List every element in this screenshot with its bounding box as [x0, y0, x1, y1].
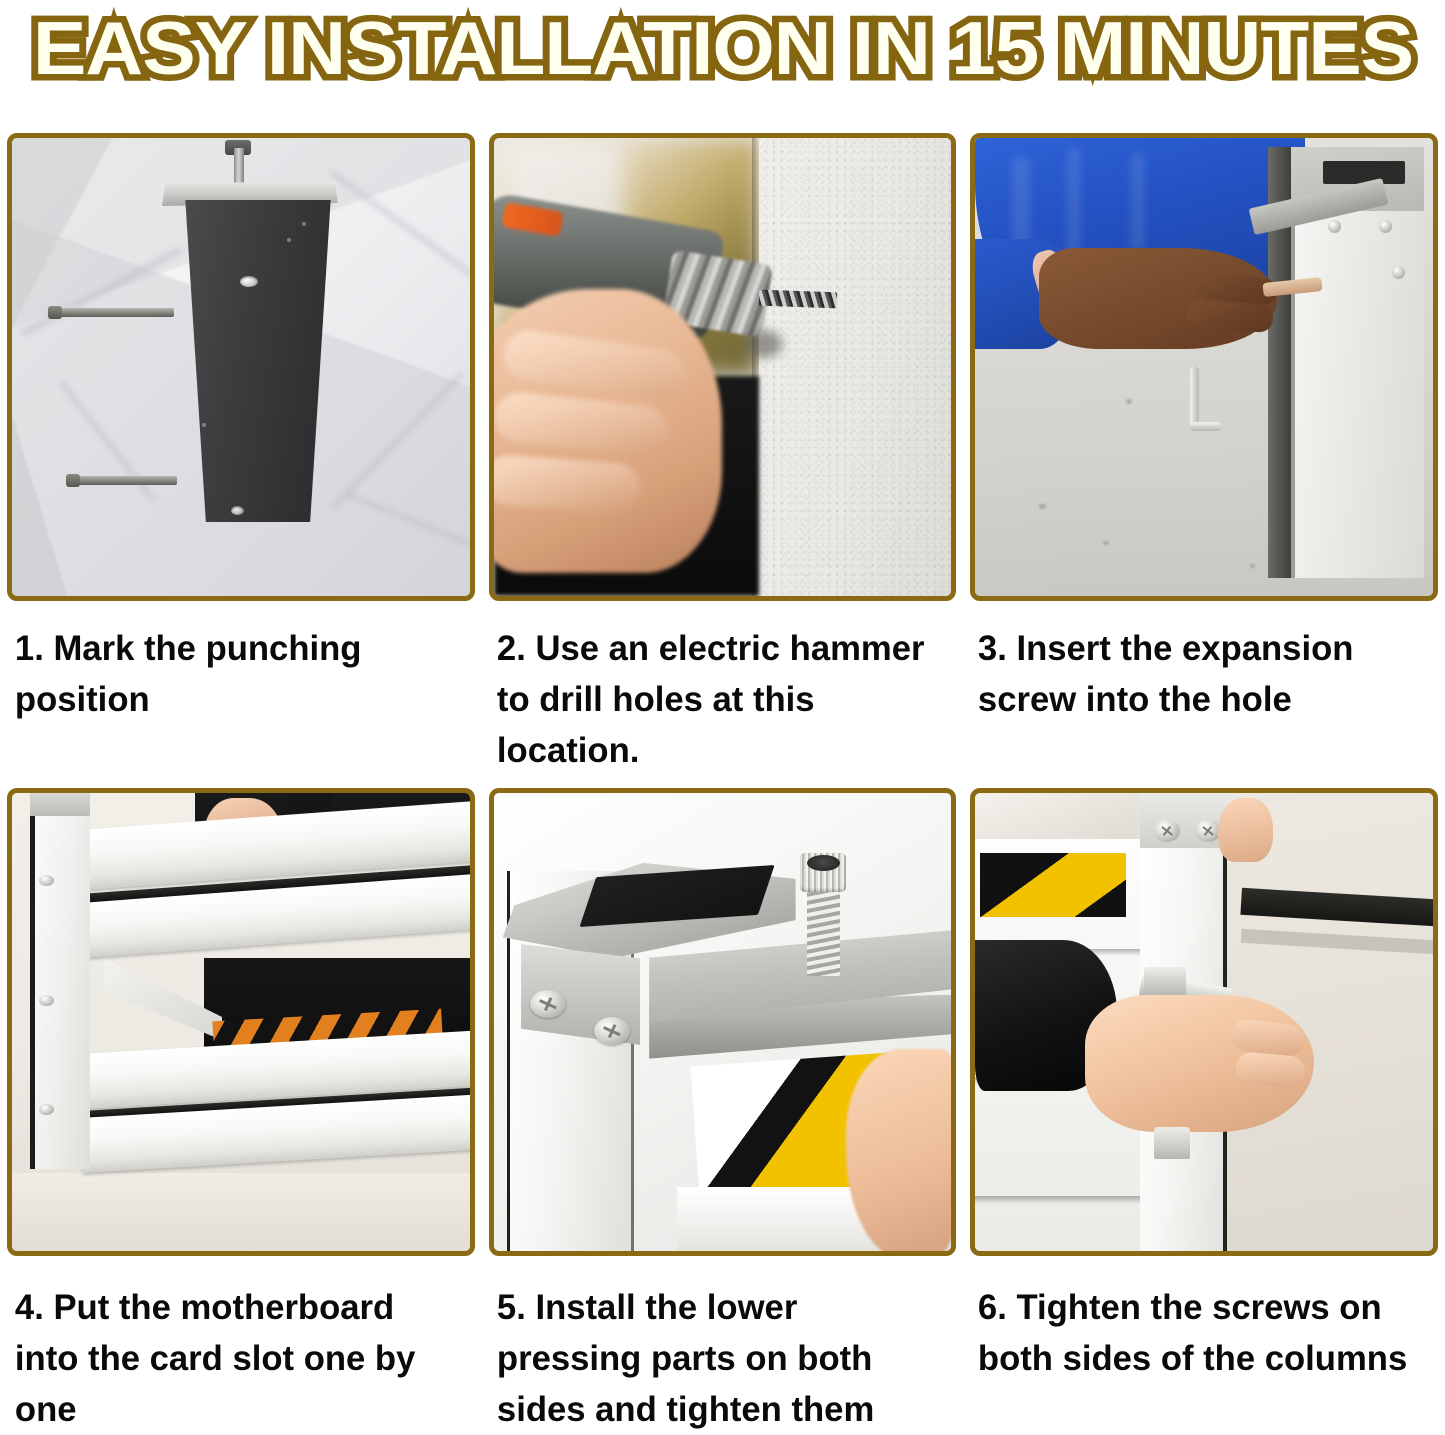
- board-gap: [975, 1196, 1144, 1204]
- side-rod-lower: [72, 476, 177, 485]
- step-image-6: [970, 788, 1438, 1256]
- column-black-inset: [1323, 161, 1405, 184]
- scene-boards-into-slot: [12, 793, 470, 1251]
- finger: [1235, 1051, 1306, 1089]
- hazard-striped-board: [980, 853, 1126, 917]
- bolt-socket-hole: [807, 855, 840, 871]
- shirt-fold: [1131, 152, 1145, 253]
- step-image-3: [970, 133, 1438, 601]
- scene-pressing-bracket: [494, 793, 952, 1251]
- floor-speck: [1250, 564, 1255, 568]
- step-caption-2: 2. Use an electric hammer to drill holes…: [489, 601, 952, 776]
- step-image-1: [7, 133, 475, 601]
- step-caption-4: 4. Put the motherboard into the card slo…: [7, 1256, 470, 1435]
- template-speck: [202, 423, 206, 427]
- lower-screw-fitting: [1154, 1127, 1191, 1159]
- step-cell-5: 5. Install the lower pressing parts on b…: [482, 788, 964, 1435]
- allen-key-icon: [1190, 367, 1236, 431]
- template-hole-lower: [231, 506, 244, 515]
- finger: [494, 453, 642, 514]
- side-rod-lower-tip: [66, 474, 80, 487]
- step-cell-3: 3. Insert the expansion screw into the h…: [963, 133, 1445, 776]
- phillips-screw-icon: [530, 990, 566, 1018]
- step-cell-6: 6. Tighten the screws on both sides of t…: [963, 788, 1445, 1435]
- scene-drilling-wall: [494, 138, 952, 596]
- template-speck: [302, 222, 306, 226]
- drill-bit: [759, 290, 837, 308]
- column-top-cap: [30, 793, 89, 816]
- scene-tighten-screws: [975, 793, 1433, 1251]
- template-hole-upper: [240, 276, 258, 287]
- step-caption-1: 1. Mark the punching position: [7, 601, 470, 725]
- step-image-5: [489, 788, 957, 1256]
- side-rod-upper: [54, 308, 174, 317]
- step-caption-6: 6. Tighten the screws on both sides of t…: [970, 1256, 1433, 1384]
- knurled-bolt: [800, 853, 846, 977]
- top-bolt-shaft: [234, 148, 244, 188]
- template-speck: [287, 238, 291, 242]
- drill-dust: [745, 330, 782, 357]
- installer-hand: [846, 1049, 951, 1251]
- column-screw: [1379, 220, 1392, 233]
- step-caption-5: 5. Install the lower pressing parts on b…: [489, 1256, 952, 1435]
- step-cell-2: 2. Use an electric hammer to drill holes…: [482, 133, 964, 776]
- steps-row-2: 4. Put the motherboard into the card slo…: [0, 788, 1445, 1435]
- bolt-thread: [807, 887, 840, 976]
- step-image-4: [7, 788, 475, 1256]
- textured-wall: [759, 138, 951, 596]
- installation-steps-grid: 1. Mark the punching position: [0, 133, 1445, 1435]
- supporting-hand: [1218, 798, 1273, 862]
- scene-marking-template: [12, 138, 470, 596]
- step-image-2: [489, 133, 957, 601]
- scene-expansion-screw: [975, 138, 1433, 596]
- page-title: EASY INSTALLATION IN 15 MINUTES: [32, 9, 1412, 87]
- step-caption-3: 3. Insert the expansion screw into the h…: [970, 601, 1433, 725]
- column-screw: [39, 995, 54, 1006]
- step-cell-4: 4. Put the motherboard into the card slo…: [0, 788, 482, 1435]
- steps-row-1: 1. Mark the punching position: [0, 133, 1445, 776]
- floor: [12, 1173, 470, 1251]
- side-rod-upper-tip: [48, 306, 62, 319]
- header-banner: EASY INSTALLATION IN 15 MINUTES: [0, 0, 1445, 92]
- step-cell-1: 1. Mark the punching position: [0, 133, 482, 776]
